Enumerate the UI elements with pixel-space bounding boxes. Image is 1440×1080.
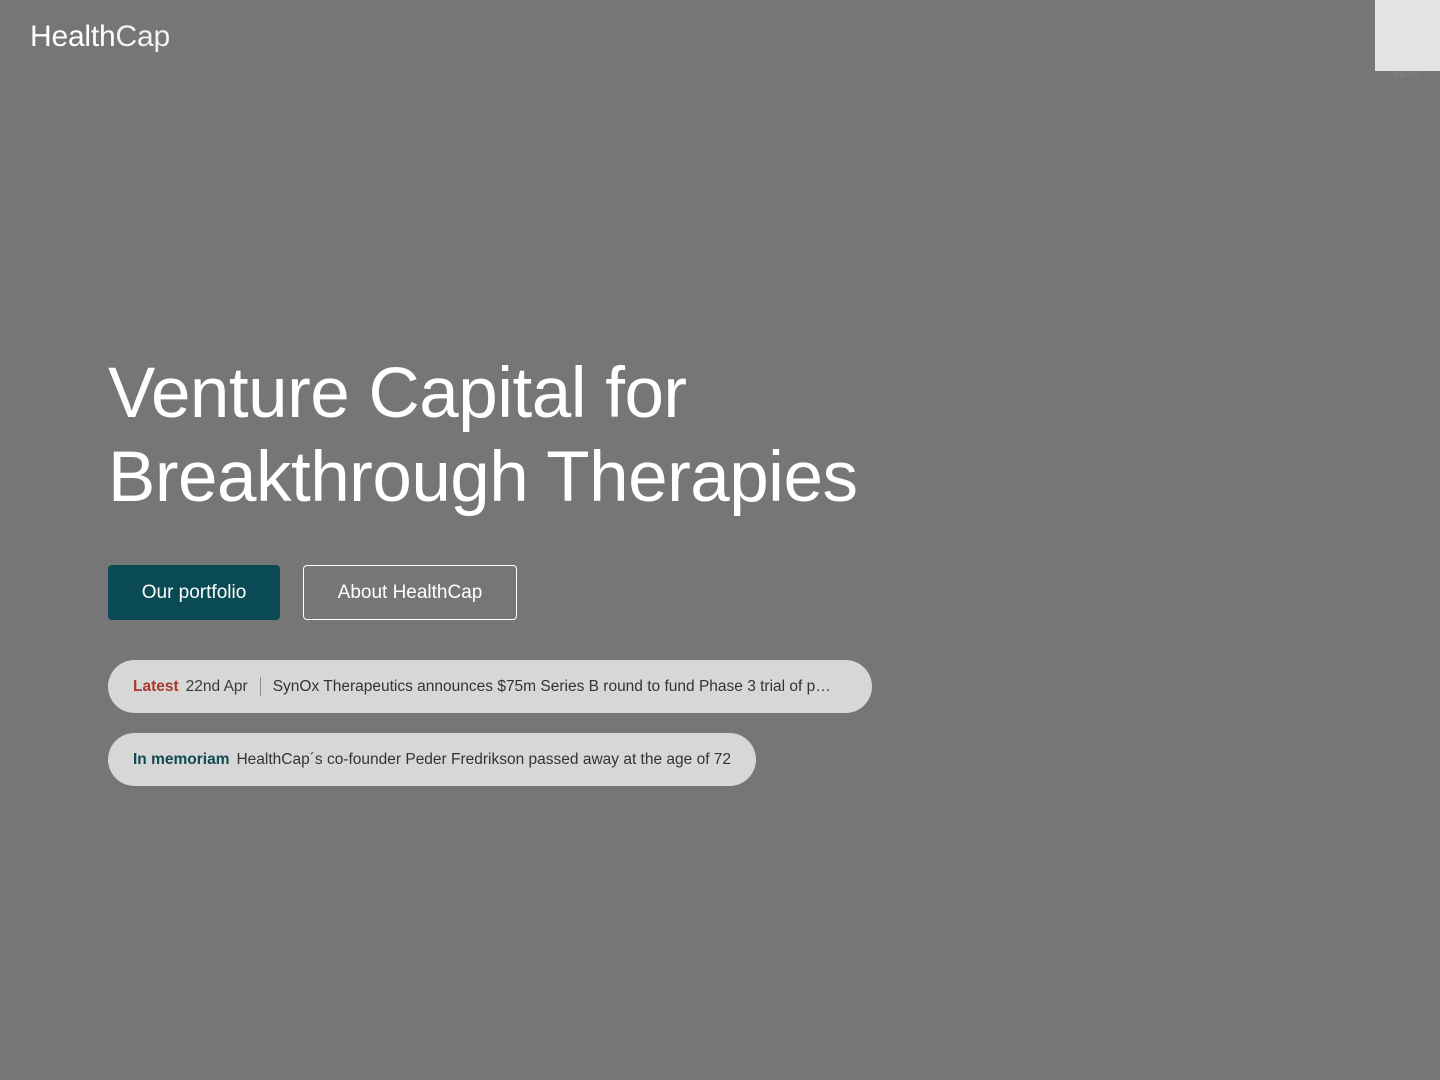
news-headline-memoriam: HealthCap´s co-founder Peder Fredrikson … [236, 751, 731, 769]
news-tag-latest: Latest [133, 678, 179, 696]
our-portfolio-button[interactable]: Our portfolio [108, 565, 280, 620]
page-root: HealthCap MENU Venture Capital for Break… [0, 0, 1440, 1080]
menu-label[interactable]: MENU [1379, 70, 1435, 79]
news-pill-latest[interactable]: Latest 22nd Apr SynOx Therapeutics annou… [108, 660, 872, 713]
news-pill-memoriam[interactable]: In memoriam HealthCap´s co-founder Peder… [108, 733, 756, 786]
site-header: HealthCap MENU [0, 0, 1440, 72]
logo-text-strong: Health [30, 20, 116, 53]
logo-text-light: Cap [116, 20, 170, 53]
news-tag-memoriam: In memoriam [133, 751, 229, 769]
cta-button-row: Our portfolio About HealthCap [108, 565, 517, 620]
news-pill-stack: Latest 22nd Apr SynOx Therapeutics annou… [108, 660, 872, 786]
hero-section: Venture Capital for Breakthrough Therapi… [108, 352, 1108, 520]
menu-panel[interactable] [1375, 0, 1440, 71]
news-headline-latest: SynOx Therapeutics announces $75m Series… [273, 678, 831, 696]
news-separator-icon [260, 677, 261, 696]
about-healthcap-button[interactable]: About HealthCap [303, 565, 517, 620]
page-title: Venture Capital for Breakthrough Therapi… [108, 352, 988, 520]
site-logo[interactable]: HealthCap [30, 19, 170, 55]
news-date-latest: 22nd Apr [186, 678, 248, 696]
